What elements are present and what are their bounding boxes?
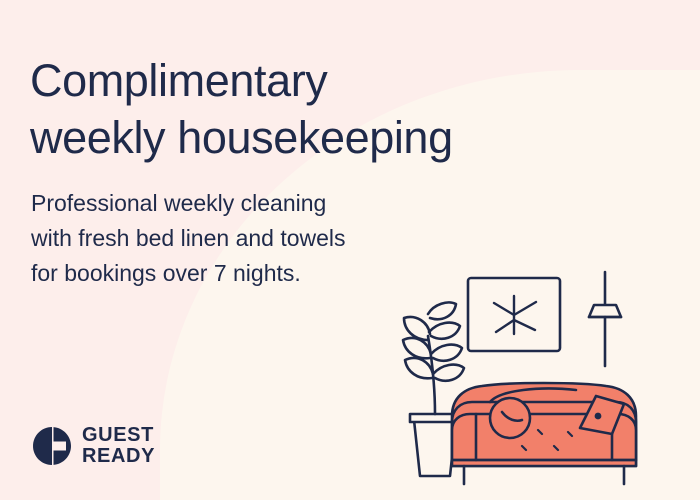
subtitle-line-3: for bookings over 7 nights. xyxy=(31,256,346,291)
subtitle: Professional weekly cleaning with fresh … xyxy=(31,186,346,291)
brand-logo-text: GUEST READY xyxy=(82,425,155,467)
card-content: Complimentary weekly housekeeping Profes… xyxy=(0,0,700,500)
subtitle-line-2: with fresh bed linen and towels xyxy=(31,221,346,256)
living-room-illustration xyxy=(390,270,690,500)
guest-ready-logo-mark-icon xyxy=(32,426,72,466)
framed-picture-icon xyxy=(468,278,560,351)
floor-lamp-icon xyxy=(589,272,621,366)
brand-logo-line-2: READY xyxy=(82,446,155,467)
brand-logo: GUEST READY xyxy=(32,425,155,467)
brand-logo-line-1: GUEST xyxy=(82,425,155,446)
headline-line-2: weekly housekeeping xyxy=(30,109,650,166)
page-title: Complimentary weekly housekeeping xyxy=(30,52,650,166)
headline-line-1: Complimentary xyxy=(30,52,650,109)
promo-card: Complimentary weekly housekeeping Profes… xyxy=(0,0,700,500)
sofa-icon xyxy=(452,383,636,484)
subtitle-line-1: Professional weekly cleaning xyxy=(31,186,346,221)
